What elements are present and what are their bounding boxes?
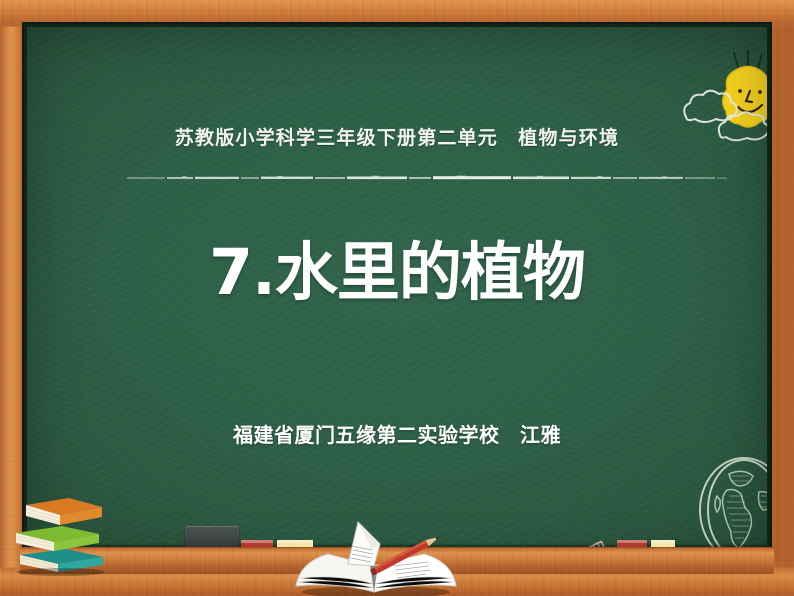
chalk-divider	[127, 170, 727, 179]
lesson-title: 7.水里的植物	[27, 237, 767, 309]
slide-root: 苏教版小学科学三年级下册第二单元 植物与环境	[0, 0, 794, 596]
chalk-ledge	[20, 547, 774, 574]
ledge-wood-grain	[20, 547, 774, 574]
blackboard-eraser-icon	[185, 526, 239, 549]
lesson-subtitle: 苏教版小学科学三年级下册第二单元 植物与环境	[27, 123, 767, 150]
blackboard-surface: 苏教版小学科学三年级下册第二单元 植物与环境	[27, 27, 767, 569]
author-line: 福建省厦门五缘第二实验学校 江雅	[27, 419, 767, 448]
